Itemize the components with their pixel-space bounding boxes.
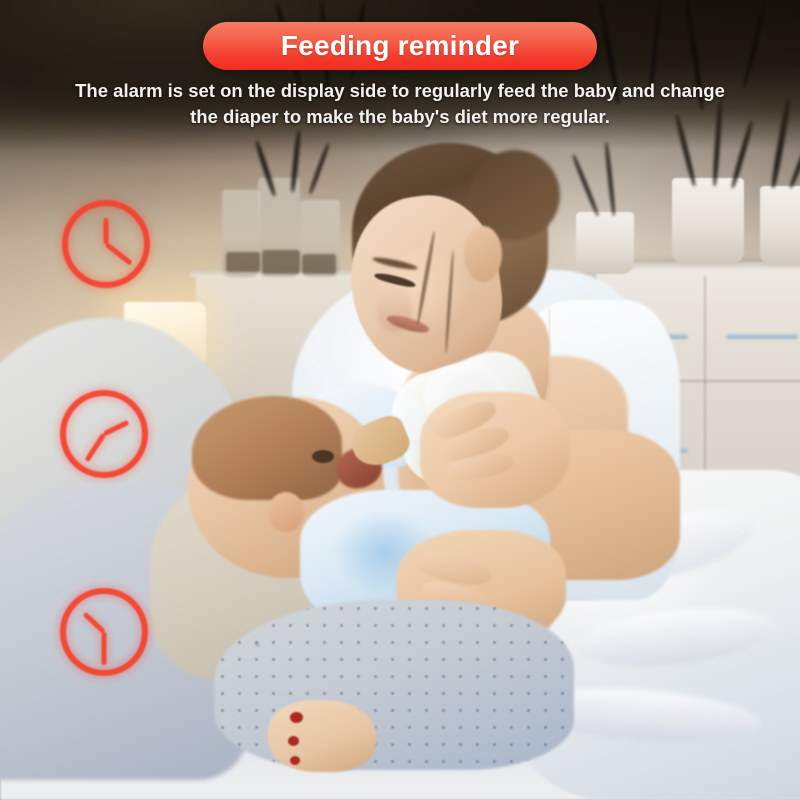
toenail <box>290 712 303 723</box>
dresser-seam-vertical <box>704 276 706 492</box>
clock-icon-bottom <box>60 588 148 676</box>
baby-eye <box>312 450 334 463</box>
mother-ear <box>464 226 502 282</box>
mother-foot <box>268 700 376 772</box>
subtitle-text: The alarm is set on the display side to … <box>70 78 730 130</box>
drawer-handle-right[interactable] <box>726 334 798 339</box>
vase-contents-2 <box>262 250 300 274</box>
toenail <box>290 756 300 765</box>
planter-left <box>576 212 634 274</box>
clock-minute-hand <box>104 242 132 266</box>
clock-minute-hand <box>102 632 107 665</box>
clock-icon-middle <box>60 390 148 478</box>
clock-icon-top <box>62 200 150 288</box>
vase-contents-3 <box>302 254 336 274</box>
clock-hour-hand <box>104 218 109 244</box>
promo-image: Feeding reminder The alarm is set on the… <box>0 0 800 800</box>
toenail <box>288 736 299 746</box>
clock-hour-hand <box>103 420 129 436</box>
clock-minute-hand <box>84 433 106 463</box>
title-banner: Feeding reminder <box>203 22 597 70</box>
page-title: Feeding reminder <box>281 30 519 62</box>
vase-contents-1 <box>226 252 260 272</box>
clock-hour-hand <box>83 612 106 634</box>
baby-ear <box>268 492 304 532</box>
